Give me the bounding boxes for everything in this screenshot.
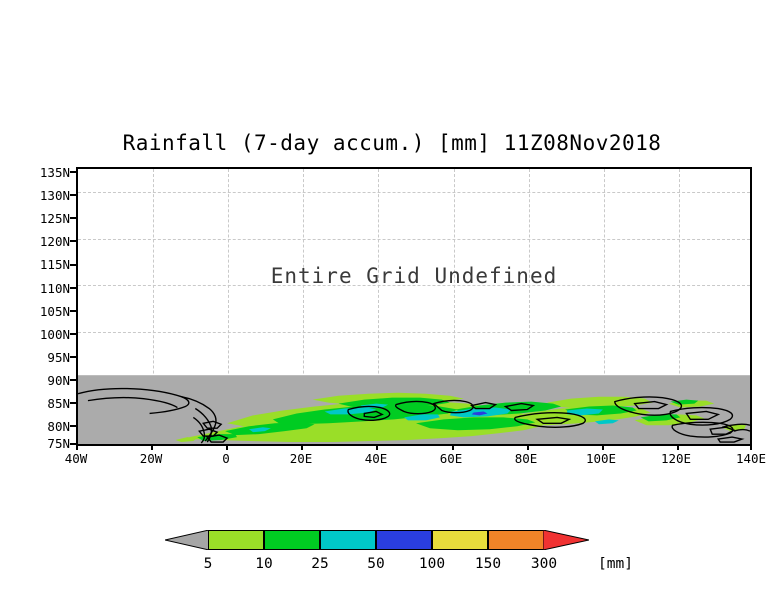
x-axis-label: 20W — [127, 451, 175, 466]
x-axis-label: 80E — [502, 451, 550, 466]
y-axis-label: 105N — [22, 304, 70, 319]
y-axis-tick — [70, 333, 76, 335]
y-axis-label: 125N — [22, 211, 70, 226]
y-axis-label: 95N — [22, 350, 70, 365]
colorbar-bin-100-150 — [432, 530, 488, 550]
y-axis-tick — [70, 425, 76, 427]
colorbar-tick-label: 10 — [240, 556, 288, 572]
y-axis-tick — [70, 310, 76, 312]
y-axis-label: 80N — [22, 419, 70, 434]
y-axis-tick — [70, 287, 76, 289]
x-axis-label: 40W — [52, 451, 100, 466]
x-axis-label: 140E — [723, 451, 779, 466]
colorbar-tick-label: 300 — [520, 556, 568, 572]
x-axis-tick — [602, 444, 604, 450]
x-axis-label: 120E — [648, 451, 704, 466]
colorbar-unit-label: [mm] — [598, 556, 633, 572]
x-axis-label: 20E — [277, 451, 325, 466]
y-axis-tick — [70, 240, 76, 242]
colorbar-under-arrow — [165, 530, 209, 550]
colorbar-tick-label: 100 — [408, 556, 456, 572]
x-axis-label: 0 — [202, 451, 250, 466]
y-axis-label: 115N — [22, 257, 70, 272]
y-axis-label: 130N — [22, 188, 70, 203]
x-axis-tick — [301, 444, 303, 450]
map-and-data-layer — [78, 169, 750, 444]
colorbar-bin-10-25 — [264, 530, 320, 550]
colorbar-bin-150-300 — [488, 530, 544, 550]
colorbar-tick-label: 25 — [296, 556, 344, 572]
colorbar-tick-label: 150 — [464, 556, 512, 572]
y-axis-label: 90N — [22, 373, 70, 388]
y-axis-label: 75N — [22, 436, 70, 451]
y-axis-tick — [70, 217, 76, 219]
x-axis-label: 100E — [573, 451, 629, 466]
y-axis-label: 100N — [22, 327, 70, 342]
x-axis-tick — [151, 444, 153, 450]
x-axis-tick — [527, 444, 529, 450]
y-axis-tick — [70, 402, 76, 404]
y-axis-tick — [70, 194, 76, 196]
colorbar-tick-label: 5 — [184, 556, 232, 572]
y-axis-tick — [70, 264, 76, 266]
y-axis-tick — [70, 379, 76, 381]
y-axis-label: 135N — [22, 165, 70, 180]
x-axis-tick — [452, 444, 454, 450]
x-axis-tick — [76, 444, 78, 450]
x-axis-tick — [226, 444, 228, 450]
colorbar-bin-5-10 — [208, 530, 264, 550]
chart-canvas: Rainfall (7-day accum.) [mm] 11Z08Nov201… — [0, 0, 784, 612]
y-axis-tick — [70, 171, 76, 173]
y-axis-tick — [70, 356, 76, 358]
x-axis-label: 40E — [352, 451, 400, 466]
y-axis-label: 110N — [22, 281, 70, 296]
colorbar-bin-50-100 — [376, 530, 432, 550]
colorbar-bin-25-50 — [320, 530, 376, 550]
plot-area: Entire Grid Undefined — [76, 167, 752, 446]
y-axis-label: 120N — [22, 234, 70, 249]
colorbar: 5 10 25 50 100 150 300 [mm] — [0, 516, 784, 576]
colorbar-over-arrow — [543, 530, 589, 550]
x-axis-tick — [376, 444, 378, 450]
colorbar-tick-label: 50 — [352, 556, 400, 572]
x-axis-label: 60E — [427, 451, 475, 466]
y-axis-label: 85N — [22, 396, 70, 411]
x-axis-tick — [677, 444, 679, 450]
x-axis-tick — [750, 444, 752, 450]
chart-title: Rainfall (7-day accum.) [mm] 11Z08Nov201… — [0, 131, 784, 155]
